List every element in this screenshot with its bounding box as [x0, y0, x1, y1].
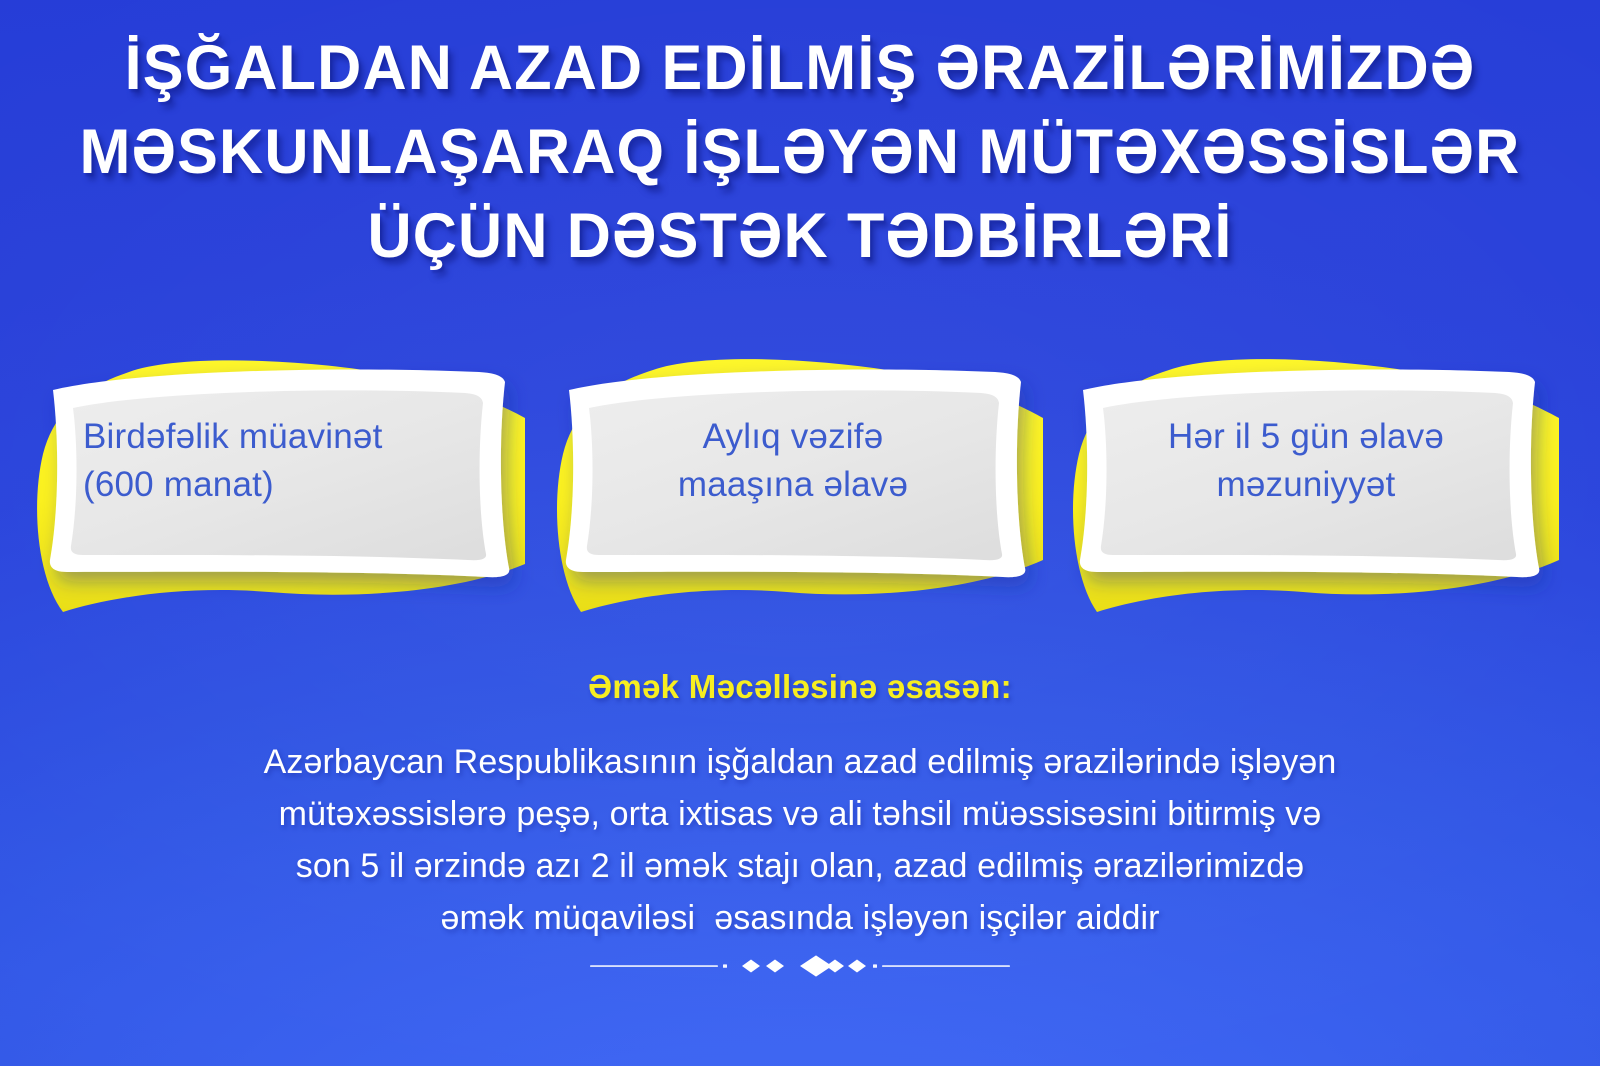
body-line: mütəxəssislərə peşə, orta ixtisas və ali… — [80, 788, 1520, 840]
body-paragraph: Azərbaycan Respublikasının işğaldan azad… — [80, 736, 1520, 944]
body-line: Azərbaycan Respublikasının işğaldan azad… — [80, 736, 1520, 788]
title-line-3: ÜÇÜN DƏSTƏK TƏDBİRLƏRİ — [71, 194, 1530, 278]
benefit-card-row: Birdəfəlik müavinət (600 manat) — [0, 352, 1600, 620]
body-line: əmək müqaviləsi əsasında işləyən işçilər… — [80, 892, 1520, 944]
infographic-poster: İŞĞALDAN AZAD EDİLMİŞ ƏRAZİLƏRİMİZDƏ MƏS… — [0, 0, 1600, 1066]
title-line-2: MƏSKUNLAŞARAQ İŞLƏYƏN MÜTƏXƏSSİSLƏR — [71, 110, 1530, 194]
ornamental-divider — [0, 948, 1600, 984]
benefit-card: Aylıq vəzifə maaşına əlavə — [549, 352, 1049, 620]
section-subheading: Əmək Məcəlləsinə əsasən: — [0, 666, 1600, 708]
card-label: Birdəfəlik müavinət (600 manat) — [67, 366, 475, 556]
body-line: son 5 il ərzində azı 2 il əmək stajı ola… — [80, 840, 1520, 892]
card-label: Hər il 5 gün əlavə məzuniyyət — [1107, 366, 1505, 556]
title-line-1: İŞĞALDAN AZAD EDİLMİŞ ƏRAZİLƏRİMİZDƏ — [71, 26, 1530, 110]
benefit-card: Hər il 5 gün əlavə məzuniyyət — [1063, 352, 1563, 620]
benefit-card: Birdəfəlik müavinət (600 manat) — [33, 352, 533, 620]
diamond-rule-icon — [590, 953, 1010, 979]
card-label: Aylıq vəzifə maaşına əlavə — [597, 366, 989, 556]
poster-title: İŞĞALDAN AZAD EDİLMİŞ ƏRAZİLƏRİMİZDƏ MƏS… — [0, 26, 1600, 278]
